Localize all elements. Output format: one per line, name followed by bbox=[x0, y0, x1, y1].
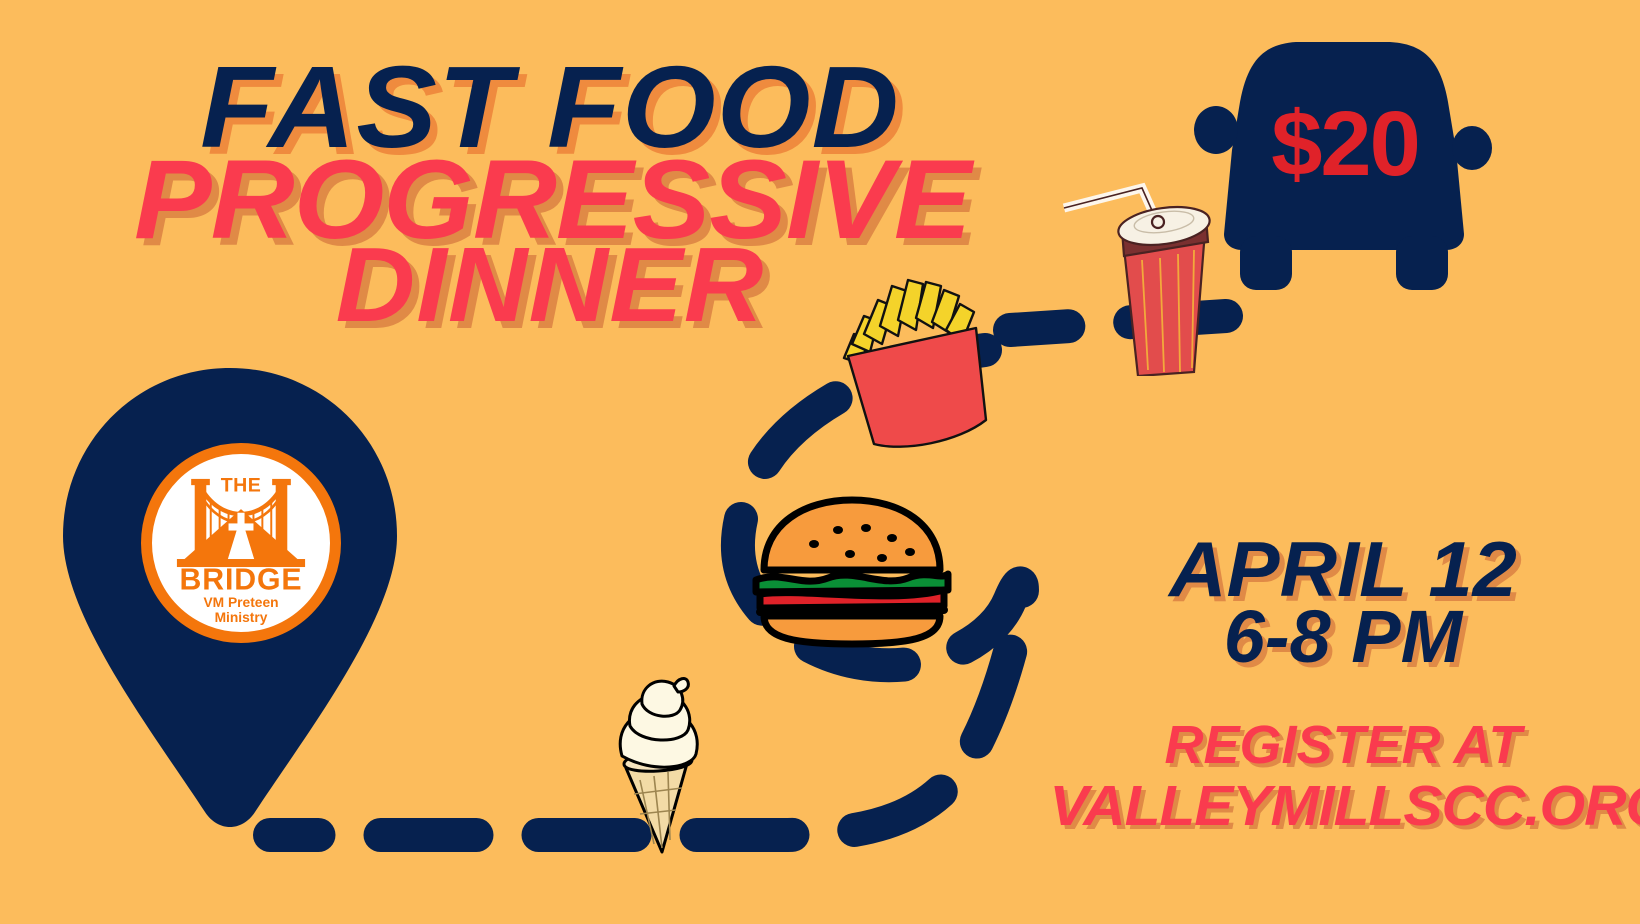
bridge-logo: BRIDGE VM Preteen Ministry THE bbox=[141, 443, 341, 643]
headline-block: FAST FOOD PROGRESSIVE DINNER bbox=[150, 58, 950, 331]
ice-cream-icon bbox=[600, 672, 718, 854]
event-details-block: APRIL 12 6-8 PM REGISTER AT VALLEYMILLSC… bbox=[1058, 534, 1628, 835]
logo-sub-line-2: Ministry bbox=[215, 610, 268, 625]
soda-cup-icon bbox=[1046, 164, 1214, 376]
logo-main-word: BRIDGE bbox=[180, 563, 303, 596]
french-fries-icon bbox=[838, 272, 990, 458]
event-date: APRIL 12 bbox=[1052, 534, 1633, 606]
price-badge: $20 bbox=[1245, 92, 1445, 197]
register-label: REGISTER AT bbox=[1058, 718, 1628, 772]
logo-sub-line-1: VM Preteen bbox=[203, 595, 278, 610]
logo-top-word: THE bbox=[221, 474, 262, 496]
register-url[interactable]: VALLEYMILLSCC.ORG/EVENTS bbox=[1049, 778, 1636, 835]
bridge-logo-artwork: BRIDGE VM Preteen Ministry THE bbox=[152, 454, 330, 632]
hamburger-icon bbox=[742, 492, 962, 652]
poster-canvas: FAST FOOD PROGRESSIVE DINNER bbox=[0, 0, 1640, 924]
